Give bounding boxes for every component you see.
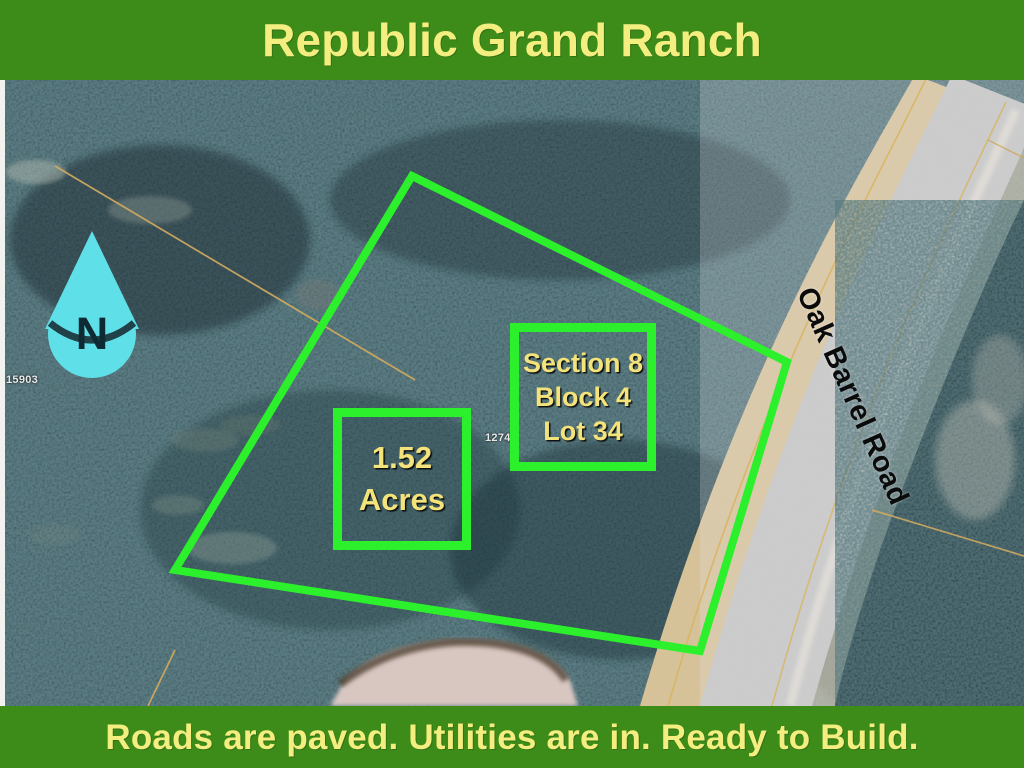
lot-info-lot: Lot 34 [543, 414, 623, 448]
callout-acreage: 1.52 Acres [333, 408, 471, 550]
lot-info-section: Section 8 [523, 346, 643, 380]
lot-map-flyer: Republic Grand Ranch [0, 0, 1024, 768]
image-edge-sliver [0, 80, 5, 706]
header-banner: Republic Grand Ranch [0, 0, 1024, 80]
lot-info-block: Block 4 [535, 380, 631, 414]
footer-tagline: Roads are paved. Utilities are in. Ready… [105, 720, 918, 755]
compass-rose: N [42, 229, 142, 384]
acreage-value: 1.52 [372, 437, 432, 479]
page-title: Republic Grand Ranch [262, 17, 762, 63]
footer-banner: Roads are paved. Utilities are in. Ready… [0, 706, 1024, 768]
acreage-unit: Acres [359, 479, 445, 521]
parcel-number-15903: 15903 [6, 374, 38, 386]
callout-lot-info: Section 8 Block 4 Lot 34 [510, 323, 656, 471]
north-arrow-icon [42, 229, 142, 384]
